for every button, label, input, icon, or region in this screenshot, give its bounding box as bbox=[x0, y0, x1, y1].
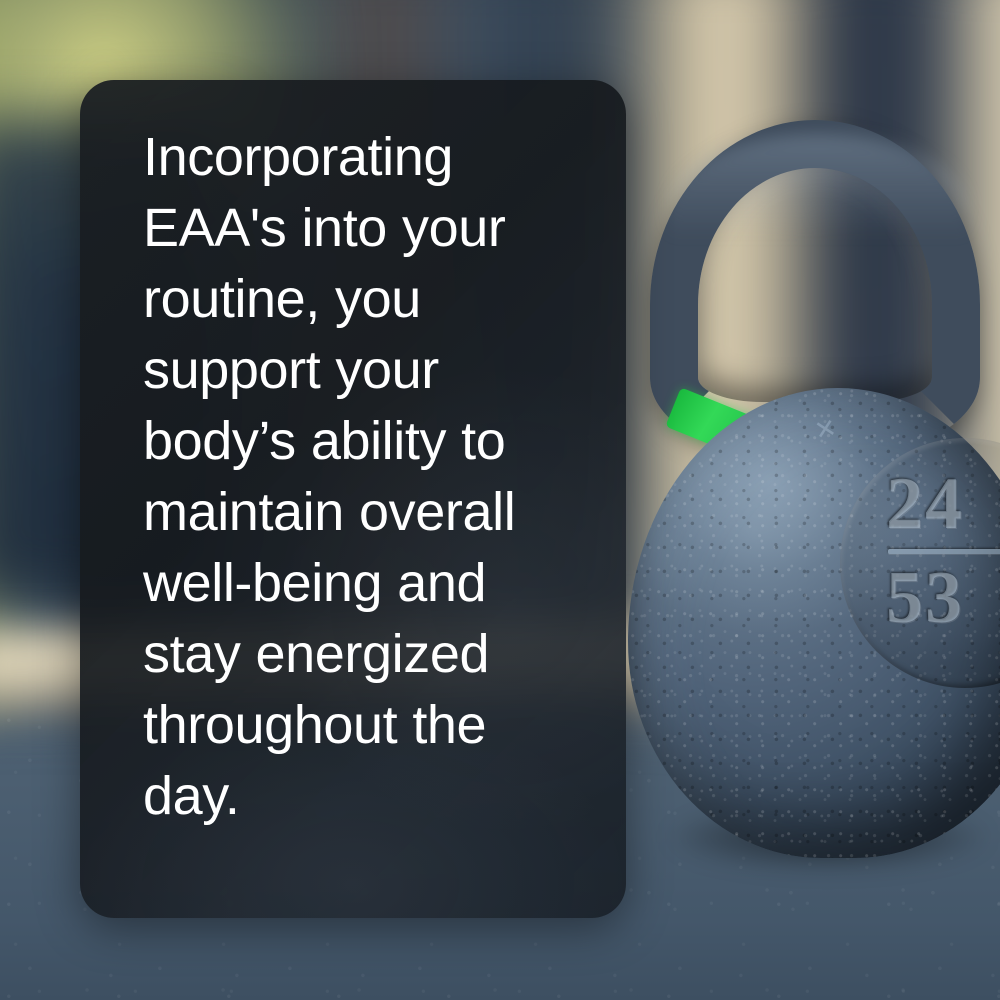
quote-card: Incorporating EAA's into your routine, y… bbox=[80, 80, 626, 918]
kettlebell-weight-divider bbox=[888, 549, 1000, 554]
kettlebell-bell: ✕ 24 53 bbox=[628, 388, 1000, 858]
kettlebell: ✕ 24 53 bbox=[628, 120, 1000, 860]
kettlebell-weight-stamp: 24 53 bbox=[886, 468, 1000, 634]
image-canvas: ✕ 24 53 Incorporating EAA's into your ro… bbox=[0, 0, 1000, 1000]
quote-text: Incorporating EAA's into your routine, y… bbox=[143, 122, 598, 832]
kettlebell-weight-kg: 24 bbox=[886, 463, 964, 545]
kettlebell-weight-lb: 53 bbox=[886, 557, 964, 639]
